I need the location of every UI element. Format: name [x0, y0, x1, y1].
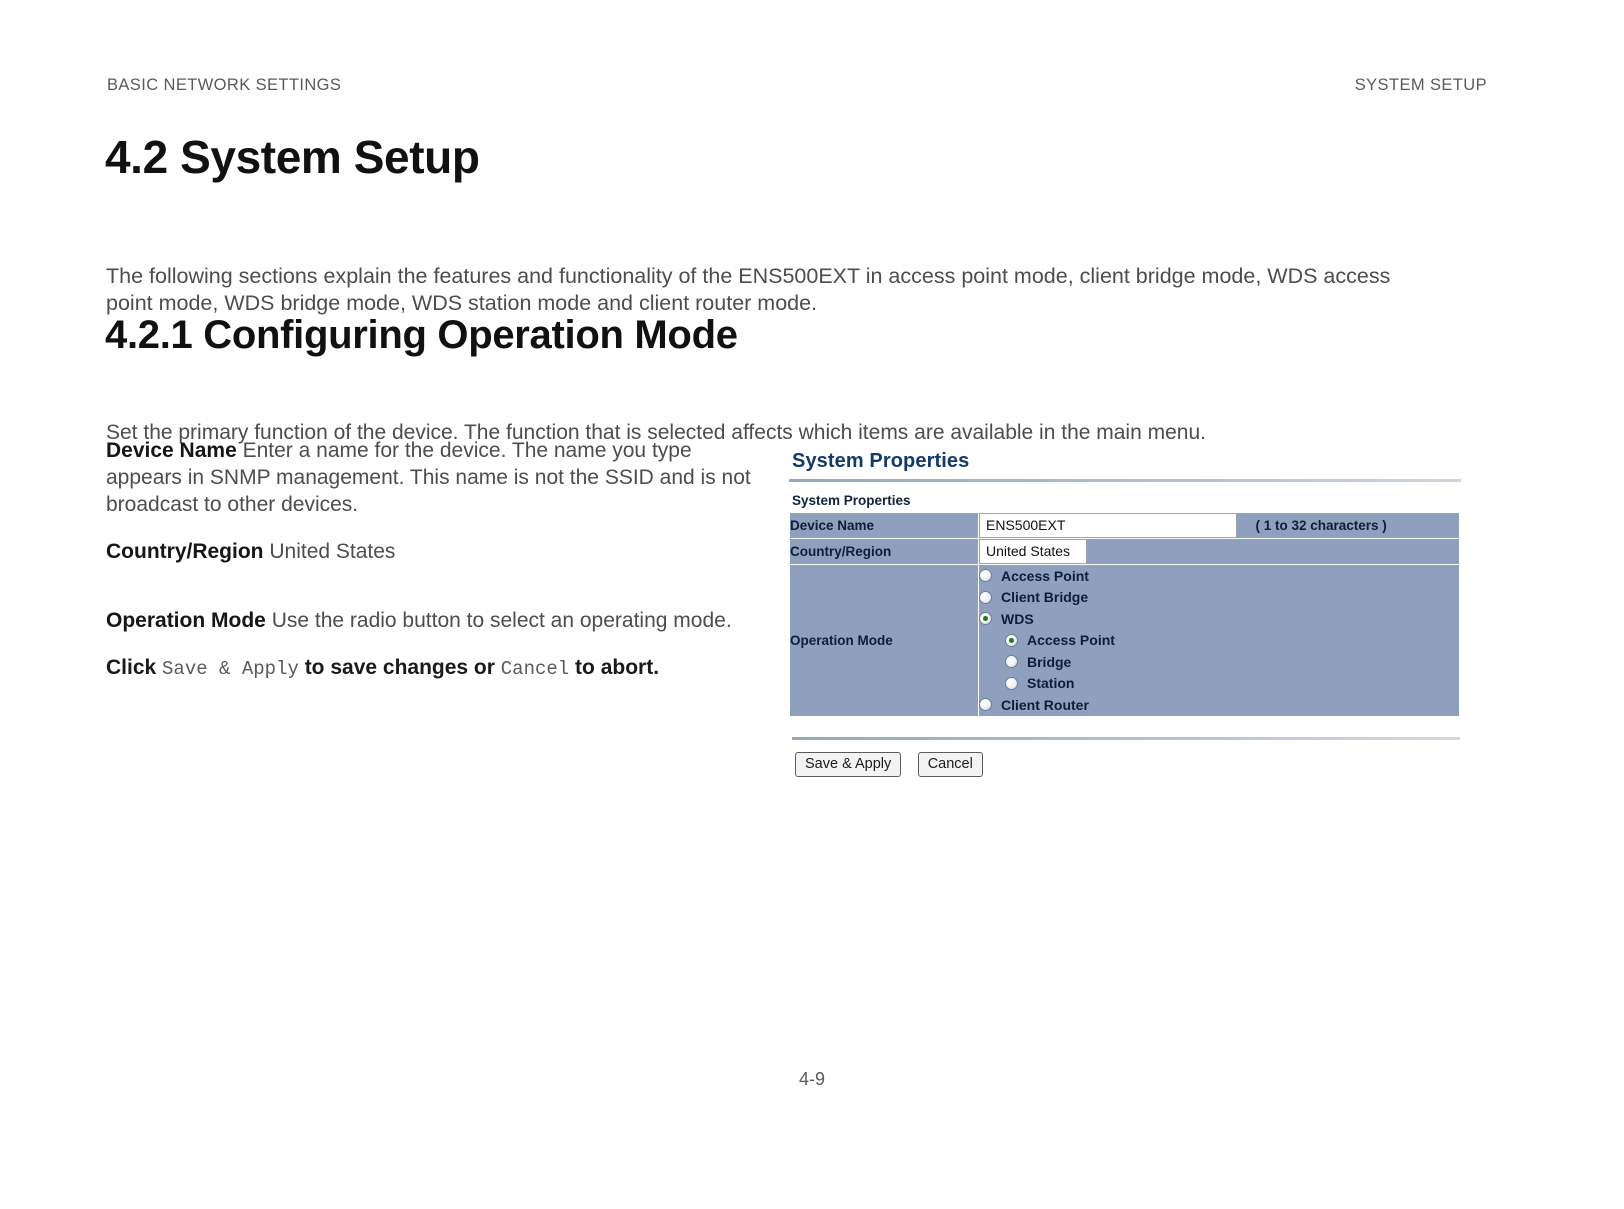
section-title: 4.2.1 Configuring Operation Mode [105, 313, 738, 358]
radio-button-icon[interactable] [979, 698, 992, 711]
radio-option-wds[interactable]: WDS [979, 608, 1459, 630]
radio-button-icon[interactable] [1005, 677, 1018, 690]
radio-option-label: Access Point [1027, 632, 1115, 648]
operation-mode-radio-group: Access PointClient BridgeWDSAccess Point… [979, 565, 1460, 717]
definition-device-name-label: Device Name [106, 439, 237, 462]
system-properties-screenshot: System Properties System Properties Devi… [789, 447, 1461, 777]
radio-option-label: Client Bridge [1001, 589, 1088, 605]
radio-button-icon[interactable] [979, 591, 992, 604]
page-number: 4-9 [0, 1069, 1624, 1090]
operation-mode-row-label: Operation Mode [790, 565, 979, 717]
radio-option-label: Station [1027, 675, 1074, 691]
ui-title-divider [789, 479, 1461, 482]
radio-option-client-bridge[interactable]: Client Bridge [979, 587, 1459, 609]
radio-option-label: Bridge [1027, 654, 1071, 670]
radio-option-label: Access Point [1001, 568, 1089, 584]
table-row-device-name: Device Name ENS500EXT ( 1 to 32 characte… [790, 513, 1460, 539]
table-row-country-region: Country/Region United States [790, 539, 1460, 565]
radio-option-label: WDS [1001, 611, 1034, 627]
system-properties-table: Device Name ENS500EXT ( 1 to 32 characte… [789, 512, 1460, 717]
country-region-select[interactable]: United States [979, 539, 1087, 564]
cancel-button[interactable]: Cancel [918, 752, 983, 777]
chapter-intro-paragraph: The following sections explain the featu… [106, 263, 1426, 317]
chapter-title: 4.2 System Setup [105, 130, 480, 184]
ui-button-divider [792, 737, 1460, 740]
radio-option-access-point[interactable]: Access Point [979, 565, 1459, 587]
radio-button-icon[interactable] [1005, 655, 1018, 668]
definition-column: Device Name Enter a name for the device.… [106, 437, 766, 683]
country-region-row-label: Country/Region [790, 539, 979, 565]
definition-device-name: Device Name Enter a name for the device.… [106, 437, 766, 518]
radio-option-station[interactable]: Station [1005, 673, 1459, 695]
cancel-command-text: Cancel [501, 658, 569, 680]
radio-option-label: Client Router [1001, 697, 1089, 713]
definition-country-region-value: United States [269, 540, 395, 563]
radio-button-icon[interactable] [979, 612, 992, 625]
running-head-left-text: BASIC NETWORK SETTINGS [107, 76, 341, 94]
click-instruction-line: Click Save & Apply to save changes or Ca… [106, 654, 766, 683]
definition-operation-mode-label: Operation Mode [106, 609, 266, 632]
running-head-right: SYSTEM SETUP [1355, 76, 1487, 95]
country-region-row-value-cell: United States [979, 539, 1460, 565]
click-middle-text: to save changes or [299, 656, 501, 679]
table-row-operation-mode: Operation Mode Access PointClient Bridge… [790, 565, 1460, 717]
device-name-input[interactable]: ENS500EXT [979, 513, 1237, 538]
running-head-right-text: SYSTEM SETUP [1355, 76, 1487, 94]
click-word: Click [106, 656, 162, 679]
radio-button-icon[interactable] [979, 569, 992, 582]
ui-panel-title: System Properties [789, 447, 1461, 479]
ui-button-bar: Save & Apply Cancel [795, 752, 1461, 777]
running-head-left: BASIC NETWORK SETTINGS [107, 76, 341, 95]
device-name-row-label: Device Name [790, 513, 979, 539]
device-name-hint: ( 1 to 32 characters ) [1255, 518, 1386, 533]
radio-option-access-point[interactable]: Access Point [1005, 630, 1459, 652]
ui-section-label: System Properties [792, 493, 1461, 508]
save-apply-command-text: Save & Apply [162, 658, 299, 680]
definition-operation-mode: Operation Mode Use the radio button to s… [106, 607, 766, 634]
radio-option-bridge[interactable]: Bridge [1005, 651, 1459, 673]
click-suffix-text: to abort. [569, 656, 659, 679]
radio-option-client-router[interactable]: Client Router [979, 694, 1459, 716]
radio-button-icon[interactable] [1005, 634, 1018, 647]
definition-country-region: Country/Region United States [106, 538, 766, 565]
definition-country-region-label: Country/Region [106, 540, 264, 563]
definition-operation-mode-desc: Use the radio button to select an operat… [272, 609, 732, 632]
save-apply-button[interactable]: Save & Apply [795, 752, 901, 777]
device-name-row-value-cell: ENS500EXT ( 1 to 32 characters ) [979, 513, 1460, 539]
